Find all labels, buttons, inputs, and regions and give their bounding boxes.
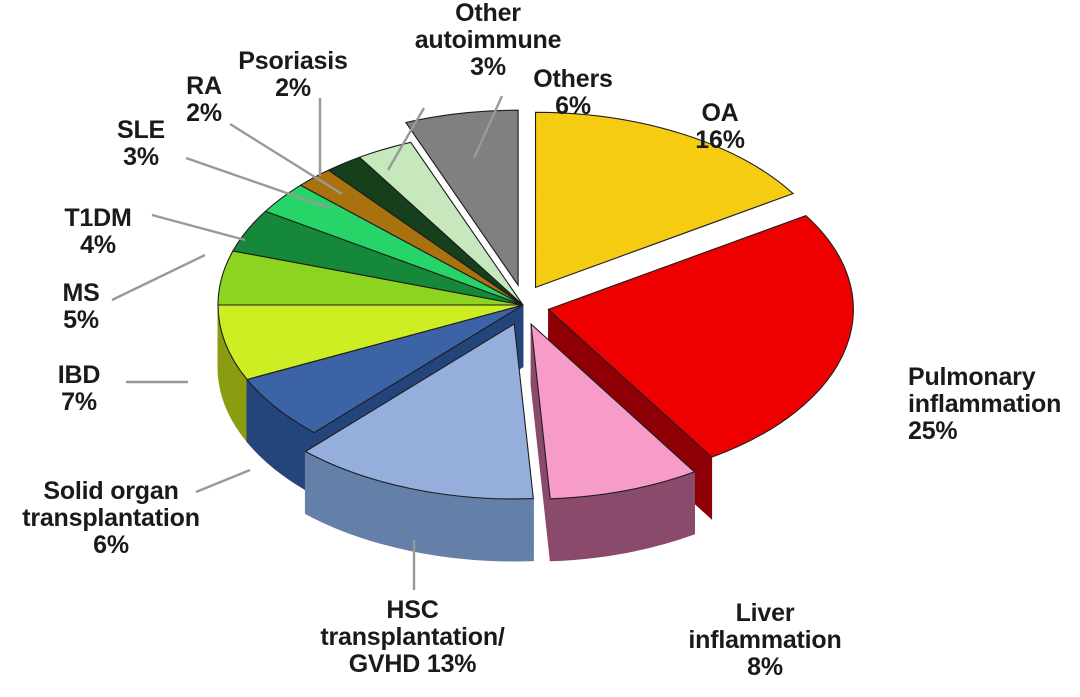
slice-label-hsc-transplantation-gvhd: HSC transplantation/ GVHD 13% bbox=[280, 597, 545, 678]
leader-line bbox=[230, 124, 342, 194]
slice-label-liver-inflammation: Liver inflammation 8% bbox=[640, 600, 890, 681]
slice-label-pulmonary-inflammation: Pulmonary inflammation 25% bbox=[908, 364, 1078, 445]
slice-label-solid-organ-transplantation: Solid organ transplantation 6% bbox=[6, 478, 216, 559]
leader-line bbox=[112, 255, 205, 300]
pie-chart-figure: OA 16% Pulmonary inflammation 25% Liver … bbox=[0, 0, 1080, 697]
slice-label-ms: MS 5% bbox=[38, 280, 124, 334]
slice-label-others: Others 6% bbox=[508, 66, 638, 120]
slice-label-psoriasis: Psoriasis 2% bbox=[222, 48, 364, 102]
slice-label-oa: OA 16% bbox=[620, 100, 820, 154]
leader-line bbox=[152, 215, 245, 240]
slice-label-t1dm: T1DM 4% bbox=[42, 205, 154, 259]
slice-label-ibd: IBD 7% bbox=[34, 362, 124, 416]
